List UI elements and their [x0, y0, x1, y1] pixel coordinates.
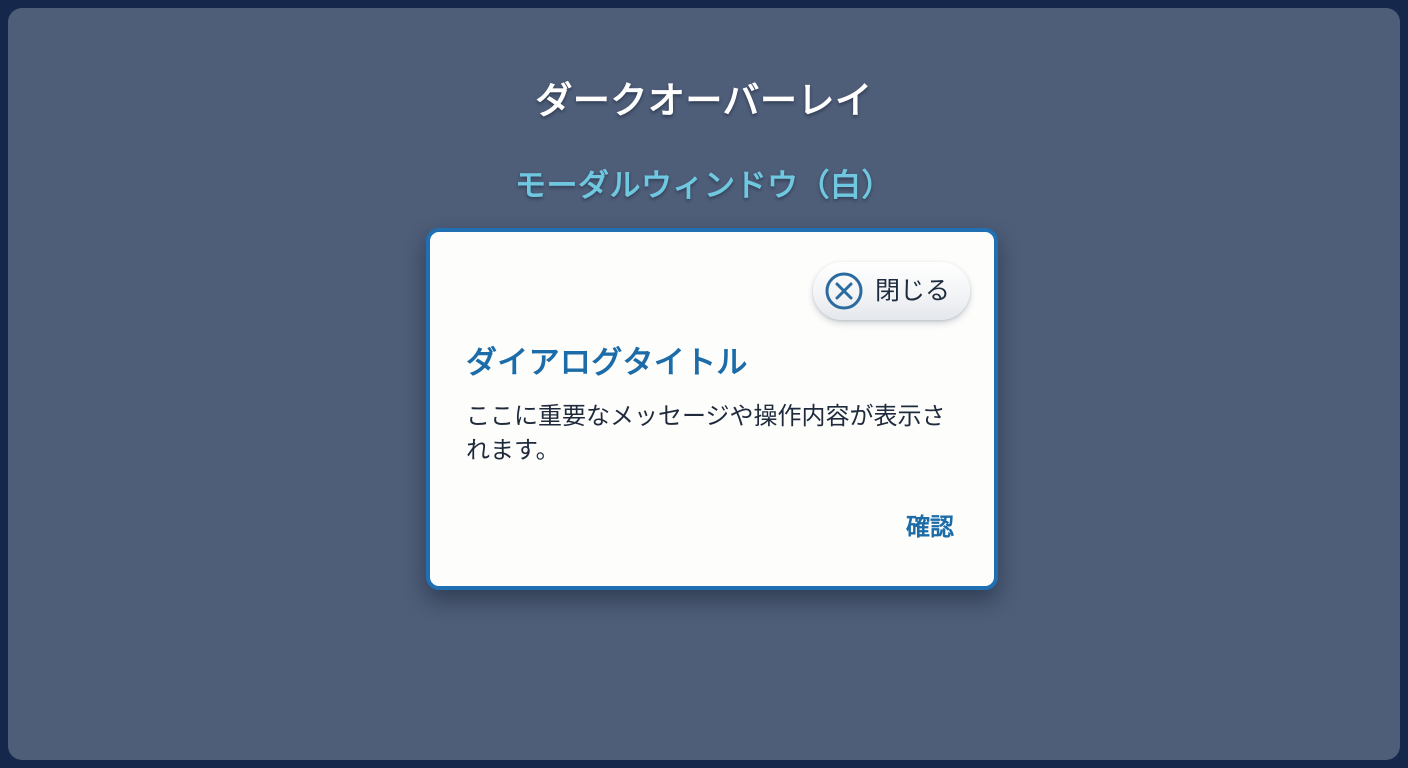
- overlay-subtitle: モーダルウィンドウ（白）: [8, 168, 1400, 204]
- dialog-title: ダイアログタイトル: [466, 344, 748, 381]
- dialog-message: ここに重要なメッセージや操作内容が表示されます。: [466, 400, 966, 468]
- close-button[interactable]: 閉じる: [813, 262, 970, 320]
- modal-dialog: 閉じる ダイアログタイトル ここに重要なメッセージや操作内容が表示されます。 確…: [426, 228, 998, 590]
- modal-content: 閉じる ダイアログタイトル ここに重要なメッセージや操作内容が表示されます。 確…: [430, 232, 994, 586]
- confirm-button[interactable]: 確認: [900, 512, 960, 544]
- dark-overlay-surface: ダークオーバーレイ モーダルウィンドウ（白） 閉じる ダイアログタイトル ここに…: [8, 8, 1400, 760]
- overlay-title: ダークオーバーレイ: [8, 80, 1400, 123]
- modal-action-row: 確認: [900, 512, 960, 544]
- close-circle-icon: [823, 270, 865, 312]
- close-button-label: 閉じる: [875, 279, 950, 304]
- overlay-heading-group: ダークオーバーレイ モーダルウィンドウ（白）: [8, 8, 1400, 203]
